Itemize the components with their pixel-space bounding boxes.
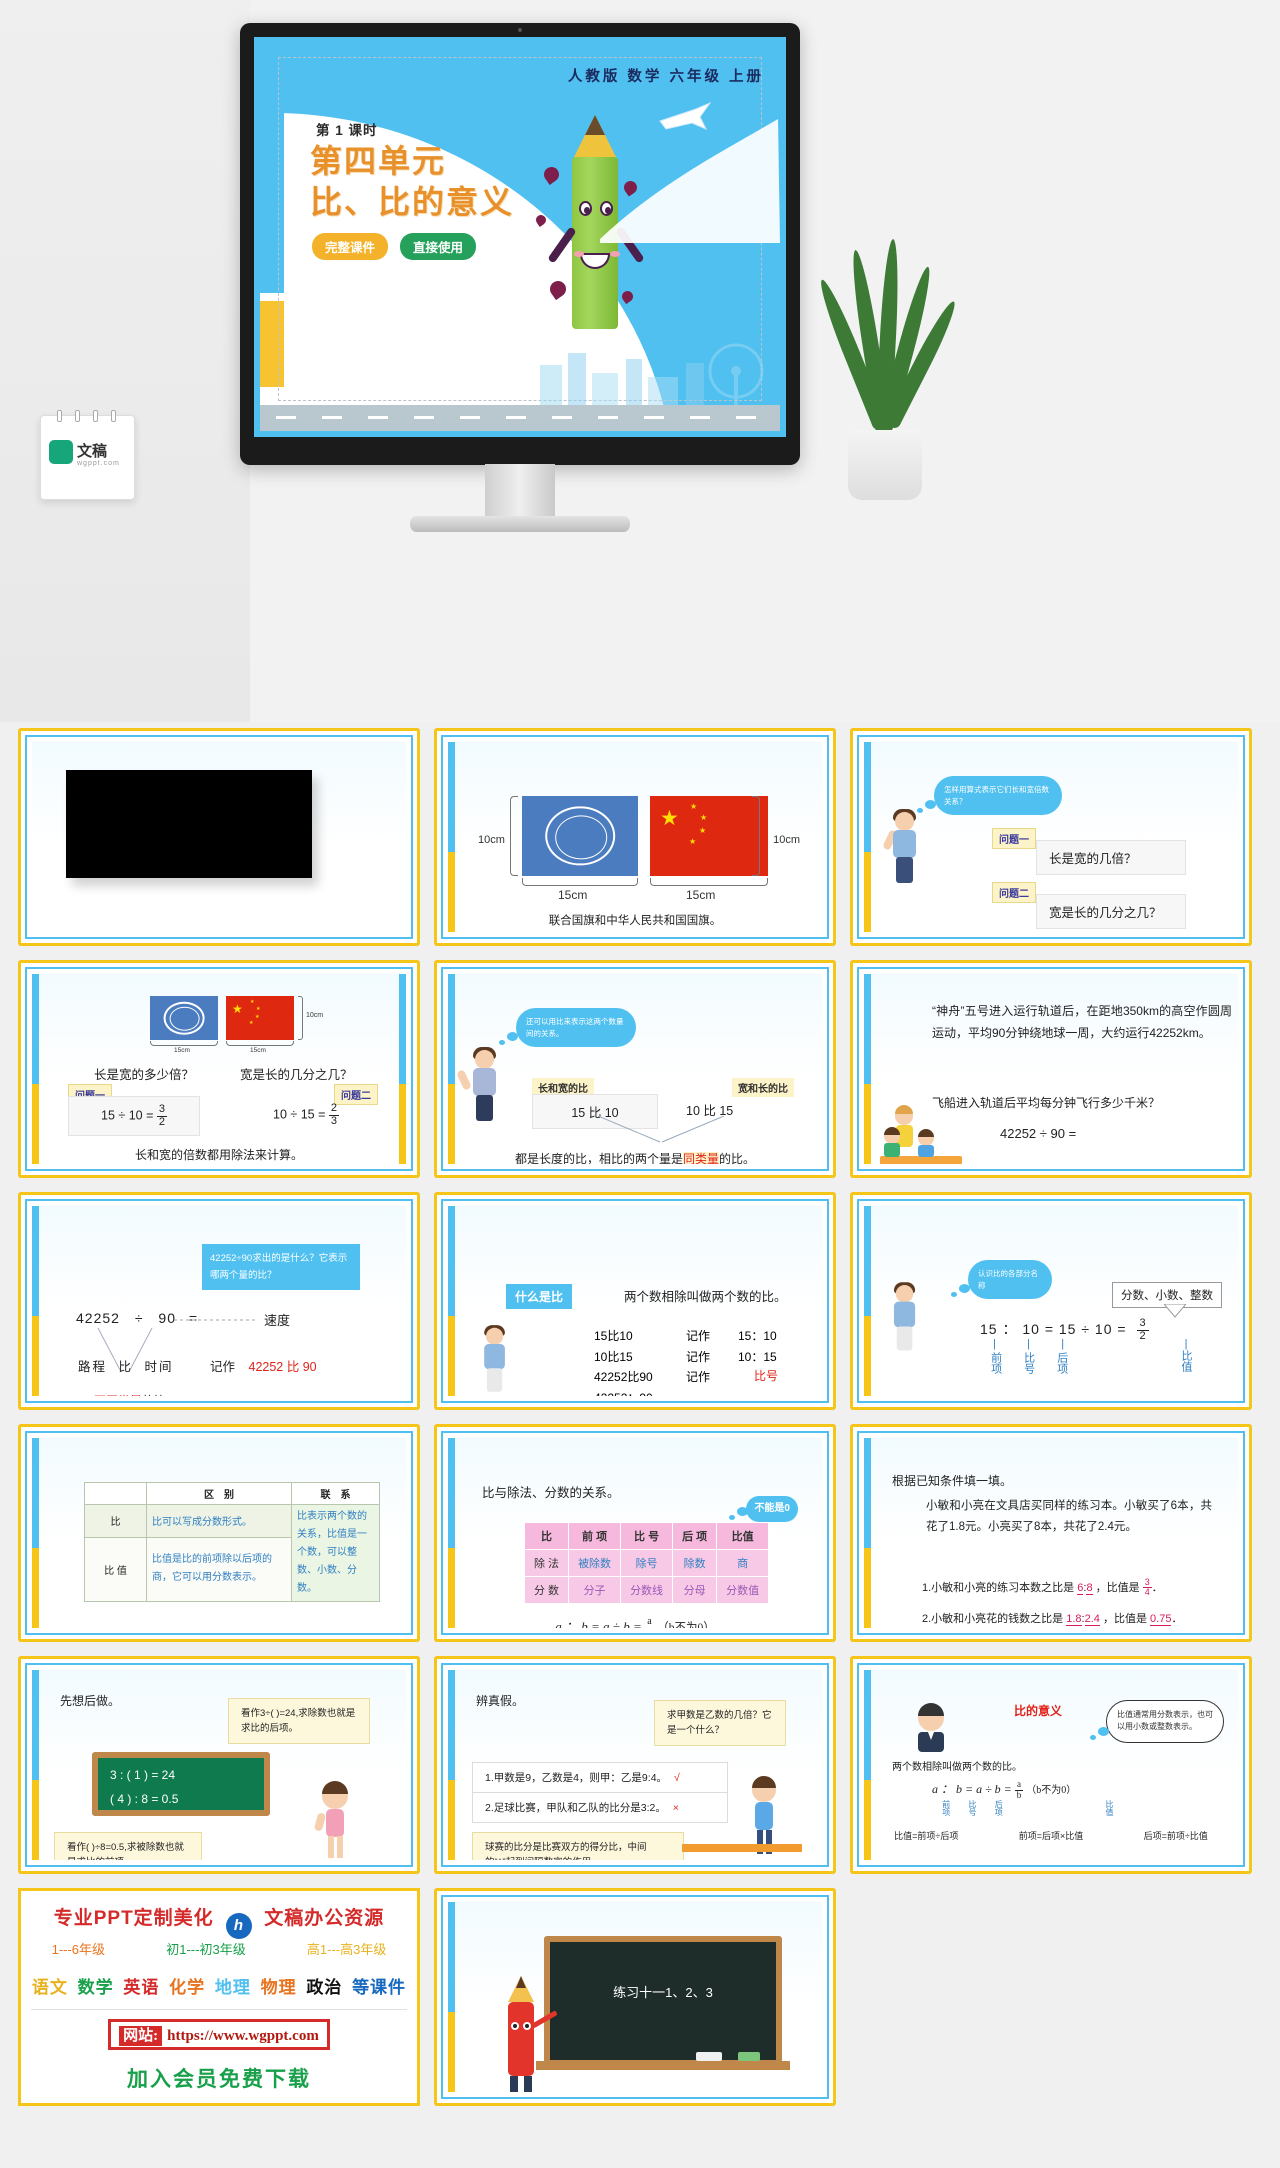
shenzhou-question: 飞船进入轨道后平均每分钟飞行多少千米？ — [932, 1094, 1232, 1111]
summary-rule-1: 比值=前项÷后项 — [894, 1829, 958, 1842]
ratio-definition: 两个数相除叫做两个数的比。 — [624, 1286, 787, 1305]
flag-width-dim-1: 15cm — [174, 1047, 190, 1054]
question-1-text: 长是宽的多少倍？ — [94, 1064, 194, 1083]
table-cell-ratio-value-diff: 比值是比的前项除以后项的商，它可以用分数表示。 — [147, 1537, 292, 1601]
slide-title-line2: 比、比的意义 — [310, 182, 514, 223]
homework-text: 练习十一1、2、3 — [550, 1982, 776, 2001]
hint-bubble-bottom: 看作( )÷8=0.5,求被除数也就是求比的前项。 — [54, 1832, 202, 1860]
exercise-q1-b: 8 — [1086, 1582, 1092, 1595]
thought-bubble: 还可以用比来表示这两个数量间的关系。 — [516, 1008, 636, 1047]
exercise-q2-prefix: 2.小敏和小亮花的钱数之比是 — [922, 1613, 1063, 1625]
ratio-connector-lines — [598, 1116, 728, 1144]
equation-1-numerator: 3 — [157, 1104, 167, 1117]
cell-ratio-value: 比值 — [717, 1523, 769, 1550]
grade-senior: 高1---高3年级 — [307, 1939, 386, 1958]
un-flag-icon — [522, 796, 638, 876]
table-cell-ratio-value: 比 值 — [85, 1537, 147, 1601]
chalkboard: 3 : ( 1 ) = 24 ( 4 ) : 8 = 0.5 — [92, 1752, 270, 1816]
speed-lbl-distance: 路程 — [78, 1360, 107, 1374]
exercise-q2-b: 2.4 — [1085, 1613, 1100, 1626]
statement-1-mark: √ — [674, 1772, 680, 1784]
board-line-1: 3 : ( 1 ) = 24 — [110, 1768, 175, 1782]
thumb-row-5: 先想后做。 看作3÷( )=24,求除数也就是求比的后项。 3 : ( 1 ) … — [18, 1656, 1262, 1874]
promo-title-right: 文稿办公资源 — [264, 1908, 384, 1929]
promo-member-cta[interactable]: 加入会员免费下载 — [21, 2063, 417, 2093]
statement-1: 1.甲数是9，乙数是4，则甲：乙是9:4。 √ — [472, 1762, 728, 1793]
summary-lbl-b: 比号 — [967, 1800, 977, 1816]
summary-rule-3: 后项=前项÷比值 — [1144, 1829, 1208, 1842]
table-cell-connection: 比表示两个数的关系，比值是一个数，可以整数、小数、分数。 — [292, 1505, 380, 1602]
slide-thumb-1[interactable] — [18, 728, 420, 946]
empty-grid-cell — [850, 1888, 1252, 2106]
summary-lbl-a: 前项 — [941, 1800, 951, 1816]
summary-formula-tail: （b不为0） — [1026, 1785, 1076, 1796]
slide-thumb-2[interactable]: 10cm ★ ★ ★ ★ ★ 10cm 15cm 15cm 联合国旗和 — [434, 728, 836, 946]
question-tag-2: 问题二 — [992, 882, 1036, 903]
speed-lbl-bi: 比 — [119, 1360, 134, 1374]
summary-title: 比的意义 — [1014, 1702, 1062, 1719]
title-slide: 人教版 数学 六年级 上册 第 1 课时 第四单元 比、比的意义 完整课件 直接… — [260, 43, 780, 431]
website-url[interactable]: https://www.wgppt.com — [167, 2028, 319, 2044]
webcam-icon — [518, 28, 522, 32]
un-flag-icon — [150, 996, 218, 1040]
table-header-difference: 区 别 — [147, 1483, 292, 1505]
student-character-icon — [478, 1328, 512, 1396]
exercise-q2-mid: ，比值是 — [1103, 1613, 1147, 1625]
promo-title-left: 专业PPT定制美化 — [54, 1908, 214, 1929]
subject-politics: 政治 — [306, 1978, 342, 1997]
equation-2-denominator: 3 — [329, 1116, 339, 1128]
cell-divisor: 除数 — [673, 1550, 717, 1577]
table-row: 分 数 分子 分数线 分母 分数值 — [525, 1577, 769, 1604]
brand-logo-icon: h — [226, 1913, 252, 1939]
speed-bottom-red: 不同类量 — [94, 1394, 142, 1396]
cell-ratio: 比 — [525, 1523, 569, 1550]
monitor-stand-neck — [485, 464, 555, 519]
ratio-equation: 15 ： 10 = 15 ÷ 10 = — [980, 1321, 1127, 1337]
cell-fraction-value: 分数值 — [717, 1577, 769, 1604]
what-is-ratio-tag: 什么是比 — [506, 1284, 572, 1309]
grade-primary: 1---6年级 — [52, 1939, 105, 1958]
label-consequent: 后项 — [1055, 1352, 1068, 1374]
desk-edge — [682, 1844, 802, 1852]
monitor-frame: 人教版 数学 六年级 上册 第 1 课时 第四单元 比、比的意义 完整课件 直接… — [240, 23, 800, 465]
equation-box-1: 15 ÷ 10 = 3 2 — [68, 1096, 200, 1136]
ratio-value-den: 2 — [1137, 1331, 1148, 1343]
exercise-body: 小敏和小亮在文具店买同样的练习本。小敏买了6本，共花了1.8元。小亮买了8本，共… — [926, 1496, 1212, 1539]
subject-english: 英语 — [123, 1978, 159, 1997]
website-label: 网站: — [119, 2026, 162, 2046]
list-item: 15比10记作15：10 — [594, 1326, 777, 1347]
footer-part-b: 的比。 — [719, 1152, 755, 1164]
table-row: 除 法 被除数 除号 除数 商 — [525, 1550, 769, 1577]
road-strip — [260, 405, 780, 431]
exercise-q2-a: 1.8 — [1066, 1613, 1081, 1626]
callout-arrow-icon — [1164, 1304, 1186, 1318]
footer-part-a: 都是长度的比，相比的两个量是 — [515, 1152, 683, 1164]
girl-character-icon — [304, 1780, 366, 1860]
slide-thumb-6[interactable]: “神舟”五号进入运行轨道后，在距地350km的高空作圆周运动，平均90分钟绕地球… — [850, 960, 1252, 1178]
cannot-be-zero-bubble: 不能是0 — [746, 1496, 798, 1522]
slide-badges: 完整课件 直接使用 — [312, 233, 476, 260]
slide-4-footer: 长和宽的倍数都用除法来计算。 — [32, 1146, 406, 1163]
table-row: 比 比可以写成分数形式。 比表示两个数的关系，比值是一个数，可以整数、小数、分数… — [85, 1505, 380, 1538]
ratio-notation-list: 15比10记作15：10 10比15记作10：15 42252比90记作 422… — [594, 1326, 777, 1396]
desk-calendar-logo: 文稿 wgppt.com — [40, 415, 135, 500]
list-item: 42252：90 — [594, 1388, 777, 1396]
summary-lbl-d: 比值 — [1104, 1800, 1115, 1816]
speed-bubble: 42252÷90求出的是什么？它表示哪两个量的比？ — [202, 1244, 360, 1290]
equation-box-2: 10 ÷ 15 = 2 3 — [240, 1096, 372, 1134]
slide-thumb-5[interactable]: 还可以用比来表示这两个数量间的关系。 长和宽的比 宽和长的比 15 比 10 1… — [434, 960, 836, 1178]
ratio-part-labels: | | | — [980, 1338, 1078, 1352]
thought-bubble: 认识比的各部分名称 — [968, 1260, 1052, 1299]
student-character-icon — [888, 1285, 923, 1355]
statement-1-text: 1.甲数是9，乙数是4，则甲：乙是9:4。 — [485, 1772, 667, 1784]
thumb-row-2: ★ ★ ★ ★ ★ 10cm 15cm 15cm 长是宽的多少倍？ 宽是长的几分… — [18, 960, 1262, 1178]
cell-numerator: 分子 — [569, 1577, 621, 1604]
flag-right-dim: 10cm — [773, 834, 800, 846]
true-false-title: 辨真假。 — [476, 1692, 524, 1709]
speed-lbl-time: 时间 — [145, 1360, 174, 1374]
cell-denominator: 分母 — [673, 1577, 717, 1604]
chalkboard: 练习十一1、2、3 — [544, 1936, 782, 2066]
speed-result-label: 速度 — [264, 1310, 290, 1329]
slide-thumb-13[interactable]: 先想后做。 看作3÷( )=24,求除数也就是求比的后项。 3 : ( 1 ) … — [18, 1656, 420, 1874]
ratio-value-num: 3 — [1137, 1318, 1148, 1331]
explanation-bubble: 球赛的比分是比赛双方的得分比，中间的“：”起到间隔数字的作用。 — [472, 1832, 684, 1860]
subject-math: 数学 — [78, 1978, 114, 1997]
slide-thumb-12[interactable]: 根据已知条件填一填。 小敏和小亮在文具店买同样的练习本。小敏买了6本，共花了1.… — [850, 1424, 1252, 1642]
flag-cn-width: 15cm — [686, 888, 715, 902]
slide-5-footer: 都是长度的比，相比的两个量是同类量的比。 — [448, 1150, 822, 1164]
label-ratio-value: 比值 — [1178, 1350, 1194, 1372]
flag-width-dim-2: 15cm — [250, 1047, 266, 1054]
china-flag-icon: ★ ★ ★ ★ ★ — [650, 796, 768, 876]
cell-quotient: 商 — [717, 1550, 769, 1577]
hero-background — [0, 0, 250, 722]
slide-thumb-7[interactable]: 42252÷90求出的是什么？它表示哪两个量的比？ 42252 ÷ 90 = 速… — [18, 1192, 420, 1410]
table-header-connection: 联 系 — [292, 1483, 380, 1505]
exercise-q1-prefix: 1.小敏和小亮的练习本数之比是 — [922, 1582, 1074, 1594]
cell-dividend: 被除数 — [569, 1550, 621, 1577]
monitor-stand-base — [410, 516, 630, 532]
summary-frac-den: b — [1015, 1791, 1024, 1800]
shenzhou-equation: 42252 ÷ 90 = — [1000, 1126, 1076, 1141]
relations-title: 比与除法、分数的关系。 — [482, 1482, 620, 1501]
slide-title-line1: 第四单元 — [310, 141, 514, 182]
subject-geography: 地理 — [215, 1978, 251, 1997]
summary-bubble: 比值通常用分数表示，也可以用小数或整数表示。 — [1106, 1700, 1224, 1743]
slide-thumb-17[interactable]: 练习十一1、2、3 — [434, 1888, 836, 2106]
list-item: 42252比90记作 — [594, 1367, 777, 1388]
label-antecedent: 前项 — [988, 1352, 1001, 1374]
promo-title: 专业PPT定制美化 h 文稿办公资源 — [21, 1903, 417, 1939]
statement-2: 2.足球比赛，甲队和乙队的比分是3:2。 × — [472, 1792, 728, 1823]
slide-thumb-11[interactable]: 比与除法、分数的关系。 不能是0 比 前 项 比 号 后 项 比值 除 法 被除… — [434, 1424, 836, 1642]
eraser-icon — [696, 2052, 722, 2061]
promo-grade-list: 1---6年级 初1---初3年级 高1---高3年级 — [21, 1939, 417, 1958]
hero-banner: 人教版 数学 六年级 上册 第 1 课时 第四单元 比、比的意义 完整课件 直接… — [0, 0, 1280, 722]
airplane-icon — [656, 99, 714, 135]
exercise-q1-a: 6 — [1077, 1582, 1083, 1595]
table-cell-ratio: 比 — [85, 1505, 147, 1538]
promo-subject-list: 语文 数学 英语 化学 地理 物理 政治 等课件 — [21, 1973, 417, 1998]
board-line-2: ( 4 ) : 8 = 0.5 — [110, 1792, 178, 1806]
speed-dotted-line — [174, 1318, 258, 1322]
cell-fraction: 分 数 — [525, 1577, 569, 1604]
table-cell-ratio-diff: 比可以写成分数形式。 — [147, 1505, 292, 1538]
ratio-tag-right: 宽和长的比 — [732, 1078, 794, 1097]
equation-2-numerator: 2 — [329, 1103, 339, 1116]
speed-note-pre: 记作 — [210, 1360, 235, 1374]
slide-thumb-15[interactable]: 比的意义 比值通常用分数表示，也可以用小数或整数表示。 两个数相除叫做两个数的比… — [850, 1656, 1252, 1874]
kids-reading-illustration — [878, 1096, 970, 1164]
slide-kicker: 第 1 课时 — [316, 119, 378, 139]
calendar-brand-sub: wgppt.com — [77, 460, 120, 467]
summary-rule-2: 前项=后项×比值 — [1019, 1829, 1084, 1842]
promo-banner[interactable]: 专业PPT定制美化 h 文稿办公资源 1---6年级 初1---初3年级 高1-… — [18, 1888, 420, 2106]
cell-fraction-bar: 分数线 — [621, 1577, 673, 1604]
exercise-q1-den: 4 — [1143, 1588, 1152, 1597]
subject-others: 等课件 — [352, 1978, 406, 1997]
thumb-row-4: 区 别 联 系 比 比可以写成分数形式。 比表示两个数的关系，比值是一个数，可以… — [18, 1424, 1262, 1642]
subject-chemistry: 化学 — [169, 1978, 205, 1997]
grade-junior: 初1---初3年级 — [166, 1939, 245, 1958]
relation-formula: a ： b = a ÷ b = — [555, 1619, 641, 1628]
calendar-brand: 文稿 — [77, 440, 107, 461]
shenzhou-problem-text: “神舟”五号进入运行轨道后，在距地350km的高空作圆周运动，平均90分钟绕地球… — [932, 1000, 1232, 1044]
flag-left-dim: 10cm — [478, 834, 505, 846]
potted-plant-decoration — [820, 270, 950, 500]
monitor-screen: 人教版 数学 六年级 上册 第 1 课时 第四单元 比、比的意义 完整课件 直接… — [254, 37, 786, 437]
flag-un-width: 15cm — [558, 888, 587, 902]
equation-1-denominator: 2 — [157, 1117, 167, 1129]
slide-thumb-10[interactable]: 区 别 联 系 比 比可以写成分数形式。 比表示两个数的关系，比值是一个数，可以… — [18, 1424, 420, 1642]
question-text-1: 长是宽的几倍？ — [1036, 840, 1186, 875]
statement-2-mark: × — [673, 1802, 679, 1814]
subject-physics: 物理 — [261, 1978, 297, 1997]
list-item: 10比15记作10：15 — [594, 1347, 777, 1368]
question-tag-1: 问题一 — [992, 828, 1036, 849]
slide-header-right: 人教版 数学 六年级 上册 — [568, 65, 764, 86]
cell-antecedent: 前 项 — [569, 1523, 621, 1550]
city-skyline-icon — [530, 335, 780, 405]
ratio-division-fraction-table: 比 前 项 比 号 后 项 比值 除 法 被除数 除号 除数 商 分 数 — [524, 1522, 769, 1604]
table-row: 区 别 联 系 — [85, 1483, 380, 1505]
slide-thumb-14[interactable]: 辨真假。 求甲数是乙数的几倍？它是一个什么？ 1.甲数是9，乙数是4，则甲：乙是… — [434, 1656, 836, 1874]
slide-title: 第四单元 比、比的意义 — [310, 141, 514, 223]
chalk-tray — [536, 2061, 790, 2070]
thumb-row-3: 42252÷90求出的是什么？它表示哪两个量的比？ 42252 ÷ 90 = 速… — [18, 1192, 1262, 1410]
wengao-logo-icon — [49, 440, 73, 464]
student-character-icon — [886, 812, 924, 888]
chalk-box-icon — [738, 2052, 760, 2061]
question-text-2: 宽是长的几分之几？ — [1036, 894, 1186, 929]
cell-division: 除 法 — [525, 1550, 569, 1577]
thought-bubble: 怎样用算式表示它们长和宽倍数关系？ — [934, 776, 1062, 815]
flag-caption: 联合国旗和中华人民共和国国旗。 — [448, 912, 822, 928]
teacher-character-icon — [466, 1050, 504, 1126]
video-placeholder — [66, 770, 312, 878]
formula-numerator: a — [645, 1617, 654, 1628]
statement-2-text: 2.足球比赛，甲队和乙队的比分是3:2。 — [485, 1802, 666, 1814]
subject-chinese: 语文 — [32, 1978, 68, 1997]
slide-thumbnail-grid: 10cm ★ ★ ★ ★ ★ 10cm 15cm 15cm 联合国旗和 — [0, 722, 1280, 2130]
flag-height-dim: 10cm — [306, 1012, 323, 1019]
teacher-avatar-icon — [900, 1694, 962, 1756]
cell-consequent: 后 项 — [673, 1523, 717, 1550]
formula-tail: （b不为0） — [657, 1622, 715, 1628]
equation-2-left: 10 ÷ 15 = — [273, 1107, 325, 1121]
table-row: 比 前 项 比 号 后 项 比值 — [525, 1523, 769, 1550]
hint-bubble-top: 求甲数是乙数的几倍？它是一个什么？ — [654, 1700, 786, 1746]
badge-full-courseware: 完整课件 — [312, 233, 388, 260]
cell-division-sign: 除号 — [621, 1550, 673, 1577]
label-ratio-sign: 比号 — [1021, 1352, 1034, 1374]
exercise-q2-value: 0.75 — [1150, 1613, 1171, 1626]
cell-ratio-sign: 比 号 — [621, 1523, 673, 1550]
thumb-row-1: 10cm ★ ★ ★ ★ ★ 10cm 15cm 15cm 联合国旗和 — [18, 728, 1262, 946]
slide-thumb-4[interactable]: ★ ★ ★ ★ ★ 10cm 15cm 15cm 长是宽的多少倍？ 宽是长的几分… — [18, 960, 420, 1178]
think-first-title: 先想后做。 — [60, 1692, 120, 1709]
slide-thumb-8[interactable]: 什么是比 两个数相除叫做两个数的比。 15比10记作15：10 10比15记作1… — [434, 1192, 836, 1410]
table-header-empty — [85, 1483, 147, 1505]
exercise-q1-mid: ，比值是 — [1096, 1582, 1140, 1594]
summary-lead: 两个数相除叫做两个数的比。 — [892, 1758, 1022, 1773]
pencil-character-icon — [482, 1968, 560, 2092]
exercise-title: 根据已知条件填一填。 — [892, 1472, 1012, 1489]
slide-thumb-9[interactable]: 认识比的各部分名称 分数、小数、整数 15 ： 10 = 15 ÷ 10 = 3… — [850, 1192, 1252, 1410]
slide-thumb-3[interactable]: 怎样用算式表示它们长和宽倍数关系？ 问题一 长是宽的几倍？ 问题二 宽是长的几分… — [850, 728, 1252, 946]
ratio-sign-label: 比号 — [754, 1367, 778, 1384]
thumb-row-6: 专业PPT定制美化 h 文稿办公资源 1---6年级 初1---初3年级 高1-… — [18, 1888, 1262, 2106]
badge-direct-use: 直接使用 — [400, 233, 476, 260]
comparison-table: 区 别 联 系 比 比可以写成分数形式。 比表示两个数的关系，比值是一个数，可以… — [84, 1482, 380, 1602]
hint-bubble-top: 看作3÷( )=24,求除数也就是求比的后项。 — [228, 1698, 370, 1744]
equation-1-left: 15 ÷ 10 = — [101, 1108, 153, 1122]
monitor-mockup: 人教版 数学 六年级 上册 第 1 课时 第四单元 比、比的意义 完整课件 直接… — [240, 23, 800, 493]
question-2-text: 宽是长的几分之几？ — [240, 1064, 353, 1083]
summary-formula: a ： b = a ÷ b = — [932, 1782, 1012, 1796]
footer-highlight: 同类量 — [683, 1152, 719, 1164]
china-flag-icon: ★ ★ ★ ★ ★ — [226, 996, 294, 1040]
speed-note-value: 42252 比 90 — [249, 1360, 317, 1374]
speed-bottom-rest: 的比 — [142, 1394, 166, 1396]
promo-website[interactable]: 网站:https://www.wgppt.com — [21, 2019, 417, 2050]
summary-lbl-c: 后项 — [994, 1800, 1004, 1816]
